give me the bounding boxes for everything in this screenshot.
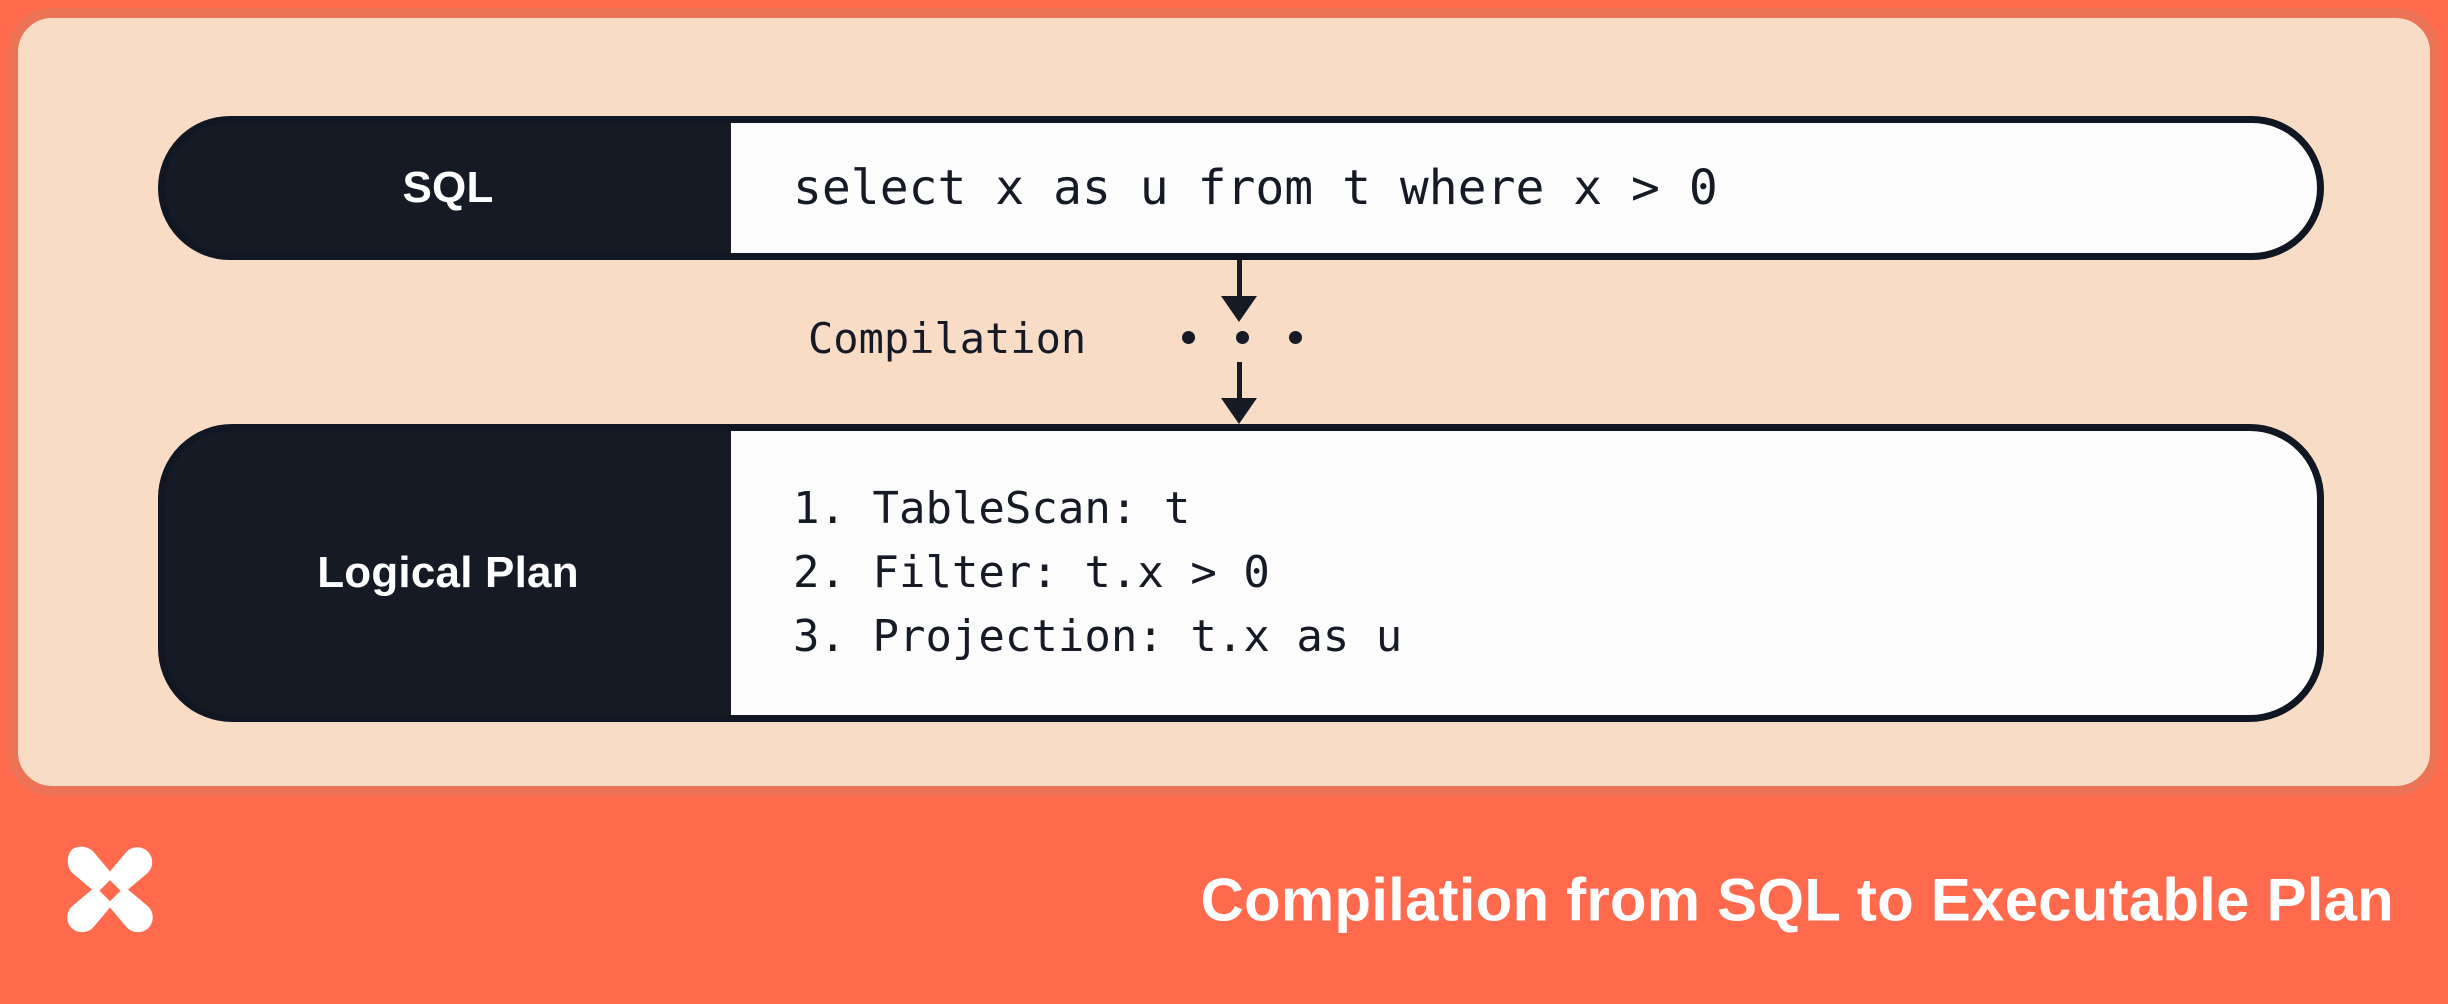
row-sql: SQL select x as u from t where x > 0 bbox=[158, 116, 2324, 260]
footer-bar: Compilation from SQL to Executable Plan bbox=[0, 796, 2448, 1004]
plan-step: 2. Filter: t.x > 0 bbox=[793, 551, 2255, 595]
down-arrow-icon-bottom bbox=[1233, 362, 1245, 424]
sql-statement: select x as u from t where x > 0 bbox=[793, 164, 2255, 212]
row-logical-plan: Logical Plan 1. TableScan: t 2. Filter: … bbox=[158, 424, 2324, 722]
plan-step: 1. TableScan: t bbox=[793, 487, 2255, 531]
row-logical-plan-code: 1. TableScan: t 2. Filter: t.x > 0 3. Pr… bbox=[731, 431, 2317, 715]
down-arrow-icon-top bbox=[1233, 260, 1245, 322]
ellipsis-icon bbox=[1182, 331, 1302, 344]
footer-title: Compilation from SQL to Executable Plan bbox=[1200, 866, 2394, 935]
row-sql-label: SQL bbox=[165, 123, 731, 253]
x-mark-logo-icon bbox=[48, 838, 172, 962]
row-logical-plan-label: Logical Plan bbox=[165, 431, 731, 715]
plan-step: 3. Projection: t.x as u bbox=[793, 615, 2255, 659]
connector-caption: Compilation bbox=[808, 314, 1086, 363]
plan-step-list: 1. TableScan: t 2. Filter: t.x > 0 3. Pr… bbox=[793, 487, 2255, 659]
slide-root: SQL select x as u from t where x > 0 Com… bbox=[0, 0, 2448, 1004]
content-card: SQL select x as u from t where x > 0 Com… bbox=[8, 8, 2440, 796]
row-sql-code: select x as u from t where x > 0 bbox=[731, 123, 2317, 253]
